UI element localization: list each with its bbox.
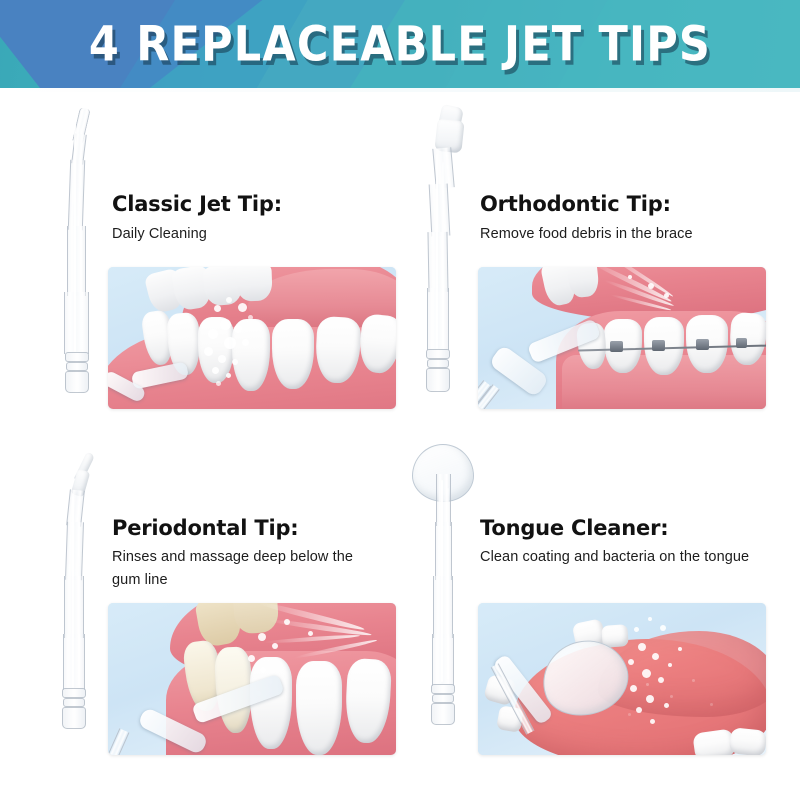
tip-card-tongue-cleaner: Tongue Cleaner: Clean coating and bacter… xyxy=(392,438,790,778)
tip-title-periodontal: Periodontal Tip: xyxy=(112,516,299,540)
tongue-scraper-nozzle-icon xyxy=(400,444,486,726)
header-banner: 4 REPLACEABLE JET TIPS xyxy=(0,0,800,88)
tip-title-classic-jet: Classic Jet Tip: xyxy=(112,192,282,216)
banner-underline-divider xyxy=(0,88,800,92)
tip-title-orthodontic: Orthodontic Tip: xyxy=(480,192,671,216)
tip-title-tongue-cleaner: Tongue Cleaner: xyxy=(480,516,668,540)
tip-photo-orthodontic xyxy=(478,267,766,409)
tip-card-classic-jet: Classic Jet Tip: Daily Cleaning xyxy=(22,104,402,422)
tip-description-classic-jet: Daily Cleaning xyxy=(112,223,382,246)
tip-description-orthodontic: Remove food debris in the brace xyxy=(480,223,780,246)
tip-photo-periodontal xyxy=(108,603,396,755)
tip-photo-classic-jet xyxy=(108,267,396,409)
tip-description-tongue-cleaner: Clean coating and bacteria on the tongue xyxy=(480,546,770,569)
tip-card-orthodontic: Orthodontic Tip: Remove food debris in t… xyxy=(398,104,790,422)
page-title: 4 REPLACEABLE JET TIPS xyxy=(0,17,800,73)
tip-card-periodontal: Periodontal Tip: Rinses and massage deep… xyxy=(22,438,402,778)
orthodontic-brush-nozzle-icon xyxy=(412,106,484,398)
tip-photo-tongue-cleaner xyxy=(478,603,766,755)
tip-description-periodontal: Rinses and massage deep below the gum li… xyxy=(112,546,384,593)
